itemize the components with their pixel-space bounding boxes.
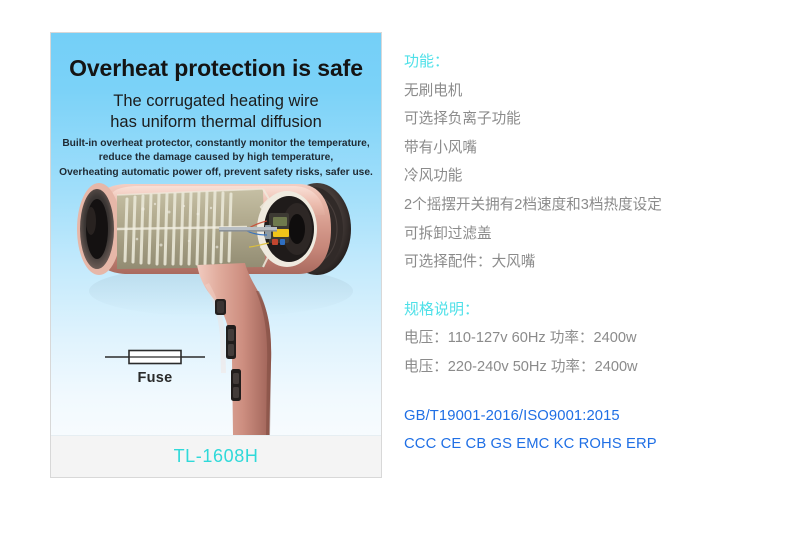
product-description-line-1: Built-in overheat protector, constantly … <box>51 137 381 151</box>
specifications-heading: 规格说明： <box>404 296 776 325</box>
fuse-icon <box>99 345 211 369</box>
product-subheading-line-1: The corrugated heating wire <box>51 91 381 112</box>
product-headline: Overheat protection is safe <box>51 55 381 82</box>
specification-panel: 功能： 无刷电机 可选择负离子功能 带有小风嘴 冷风功能 2个摇摆开关拥有2档速… <box>404 48 776 459</box>
product-image-area: Overheat protection is safe The corrugat… <box>51 33 381 437</box>
model-number-label: TL-1608H <box>174 446 259 467</box>
product-subheading: The corrugated heating wire has uniform … <box>51 91 381 133</box>
feature-item-5: 2个摇摆开关拥有2档速度和3档热度设定 <box>404 191 776 220</box>
specification-item-1: 电压：110-127v 60Hz 功率：2400w <box>404 324 776 353</box>
page-root: Overheat protection is safe The corrugat… <box>0 0 794 546</box>
specification-item-2: 电压：220-240v 50Hz 功率：2400w <box>404 353 776 382</box>
certification-line-2: CCC CE CB GS EMC KC ROHS ERP <box>404 430 776 459</box>
product-card-footer: TL-1608H <box>51 435 381 477</box>
product-description-line-2: reduce the damage caused by high tempera… <box>51 151 381 165</box>
features-heading: 功能： <box>404 48 776 77</box>
fuse-diagram: Fuse <box>99 345 211 386</box>
feature-item-2: 可选择负离子功能 <box>404 105 776 134</box>
feature-item-1: 无刷电机 <box>404 77 776 106</box>
section-spacer-2 <box>404 382 776 402</box>
certification-line-1: GB/T19001-2016/ISO9001:2015 <box>404 402 776 431</box>
feature-item-4: 冷风功能 <box>404 162 776 191</box>
fuse-label: Fuse <box>99 370 211 386</box>
feature-item-3: 带有小风嘴 <box>404 134 776 163</box>
features-group: 功能： 无刷电机 可选择负离子功能 带有小风嘴 冷风功能 2个摇摆开关拥有2档速… <box>404 48 776 277</box>
product-subheading-line-2: has uniform thermal diffusion <box>51 112 381 133</box>
feature-item-6: 可拆卸过滤盖 <box>404 220 776 249</box>
specifications-group: 规格说明： 电压：110-127v 60Hz 功率：2400w 电压：220-2… <box>404 296 776 382</box>
feature-item-7: 可选择配件：大风嘴 <box>404 248 776 277</box>
certifications-group: GB/T19001-2016/ISO9001:2015 CCC CE CB GS… <box>404 402 776 459</box>
hair-dryer-illustration <box>51 173 381 437</box>
section-spacer-1 <box>404 277 776 296</box>
product-image-card: Overheat protection is safe The corrugat… <box>50 32 382 478</box>
